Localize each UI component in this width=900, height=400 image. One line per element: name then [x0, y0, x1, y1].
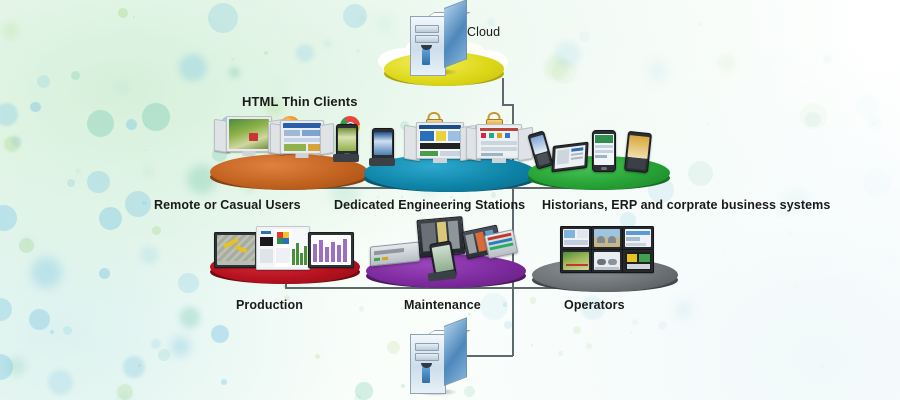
- node-maintenance[interactable]: Maintenance: [356, 214, 536, 314]
- hmi-panel: [256, 226, 310, 270]
- smartphone: [372, 128, 394, 162]
- monitor: [226, 116, 272, 152]
- cloud-label: Cloud: [467, 25, 500, 39]
- blackberry-phone: [624, 131, 652, 173]
- cloud-server-tower: [410, 8, 468, 80]
- remote-users-label: Remote or Casual Users: [154, 198, 301, 212]
- maintenance-label: Maintenance: [404, 298, 481, 312]
- monitor-wall-6: [560, 226, 652, 276]
- hmi-panel: [214, 232, 258, 268]
- node-cloud[interactable]: Cloud: [372, 8, 532, 86]
- node-engineering-stations[interactable]: Dedicated Engineering Stations: [356, 112, 536, 214]
- node-production[interactable]: Production: [196, 218, 376, 314]
- node-remote-users[interactable]: HTML Thin Clients e: [196, 94, 376, 214]
- diagram-canvas: Cloud HTML Thin Clients e: [0, 0, 900, 400]
- node-control-server[interactable]: [408, 326, 478, 400]
- node-operators[interactable]: Operators: [524, 218, 684, 314]
- monitor: [280, 120, 324, 154]
- monitor: [476, 124, 522, 159]
- production-label: Production: [236, 298, 303, 312]
- hmi-panel: [308, 232, 354, 268]
- historians-erp-label: Historians, ERP and corprate business sy…: [542, 198, 830, 212]
- smartphone: [336, 124, 358, 158]
- engineering-stations-label: Dedicated Engineering Stations: [334, 198, 525, 212]
- feature-phone: [527, 130, 553, 169]
- tablet: [551, 142, 588, 173]
- html-thin-clients-heading: HTML Thin Clients: [242, 94, 358, 109]
- control-server-tower: [410, 326, 470, 398]
- smartphone: [592, 130, 616, 172]
- operators-label: Operators: [564, 298, 625, 312]
- monitor: [416, 122, 464, 159]
- io-module: [484, 229, 518, 259]
- node-historians-erp[interactable]: Historians, ERP and corprate business sy…: [520, 118, 680, 214]
